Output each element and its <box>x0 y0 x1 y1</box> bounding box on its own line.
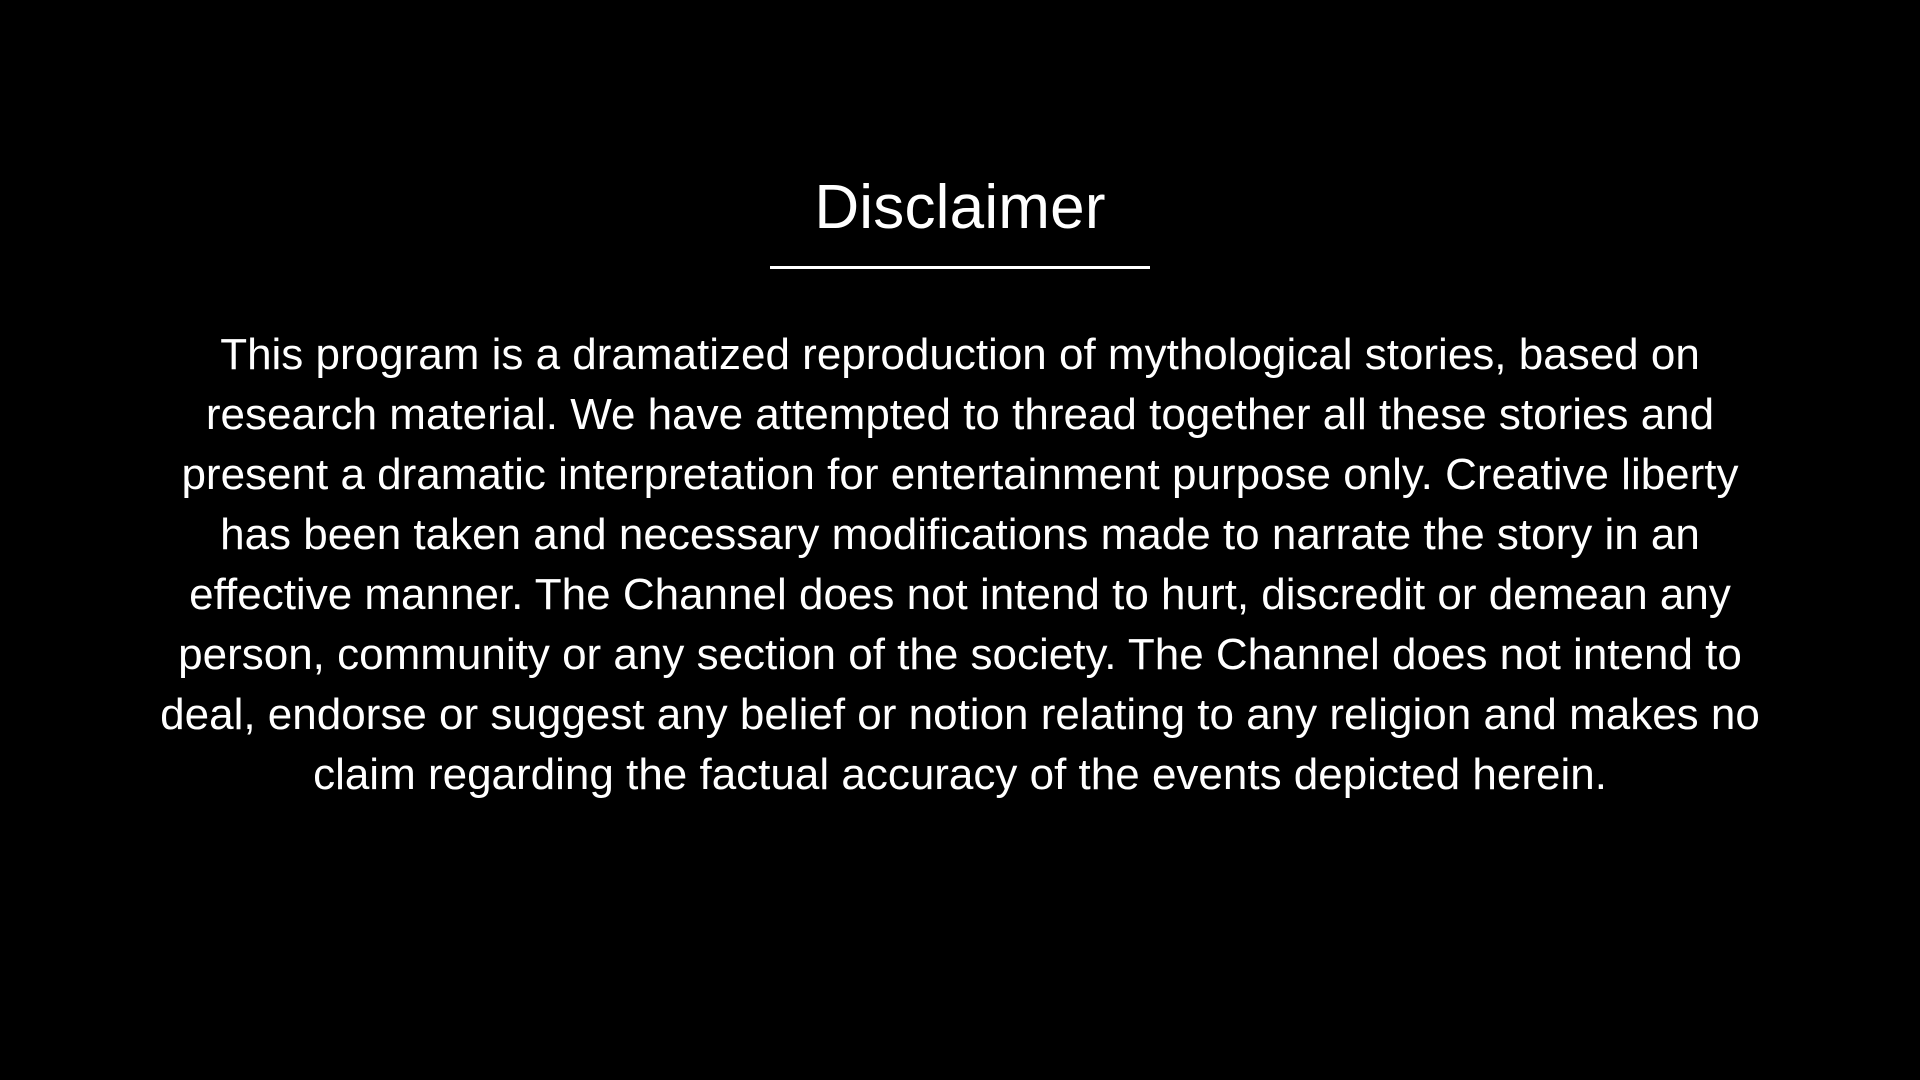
body-line: present a dramatic interpretation for en… <box>160 445 1760 505</box>
title-underline-rule <box>770 266 1150 269</box>
disclaimer-slide: Disclaimer This program is a dramatized … <box>0 0 1920 1080</box>
body-line: deal, endorse or suggest any belief or n… <box>160 685 1760 745</box>
body-line: has been taken and necessary modificatio… <box>160 505 1760 565</box>
page-title: Disclaimer <box>0 172 1920 244</box>
body-line: research material. We have attempted to … <box>160 385 1760 445</box>
title-block: Disclaimer <box>0 172 1920 269</box>
body-line: This program is a dramatized reproductio… <box>160 325 1760 385</box>
disclaimer-body: This program is a dramatized reproductio… <box>160 325 1760 805</box>
body-line: claim regarding the factual accuracy of … <box>160 745 1760 805</box>
body-line: person, community or any section of the … <box>160 625 1760 685</box>
body-line: effective manner. The Channel does not i… <box>160 565 1760 625</box>
